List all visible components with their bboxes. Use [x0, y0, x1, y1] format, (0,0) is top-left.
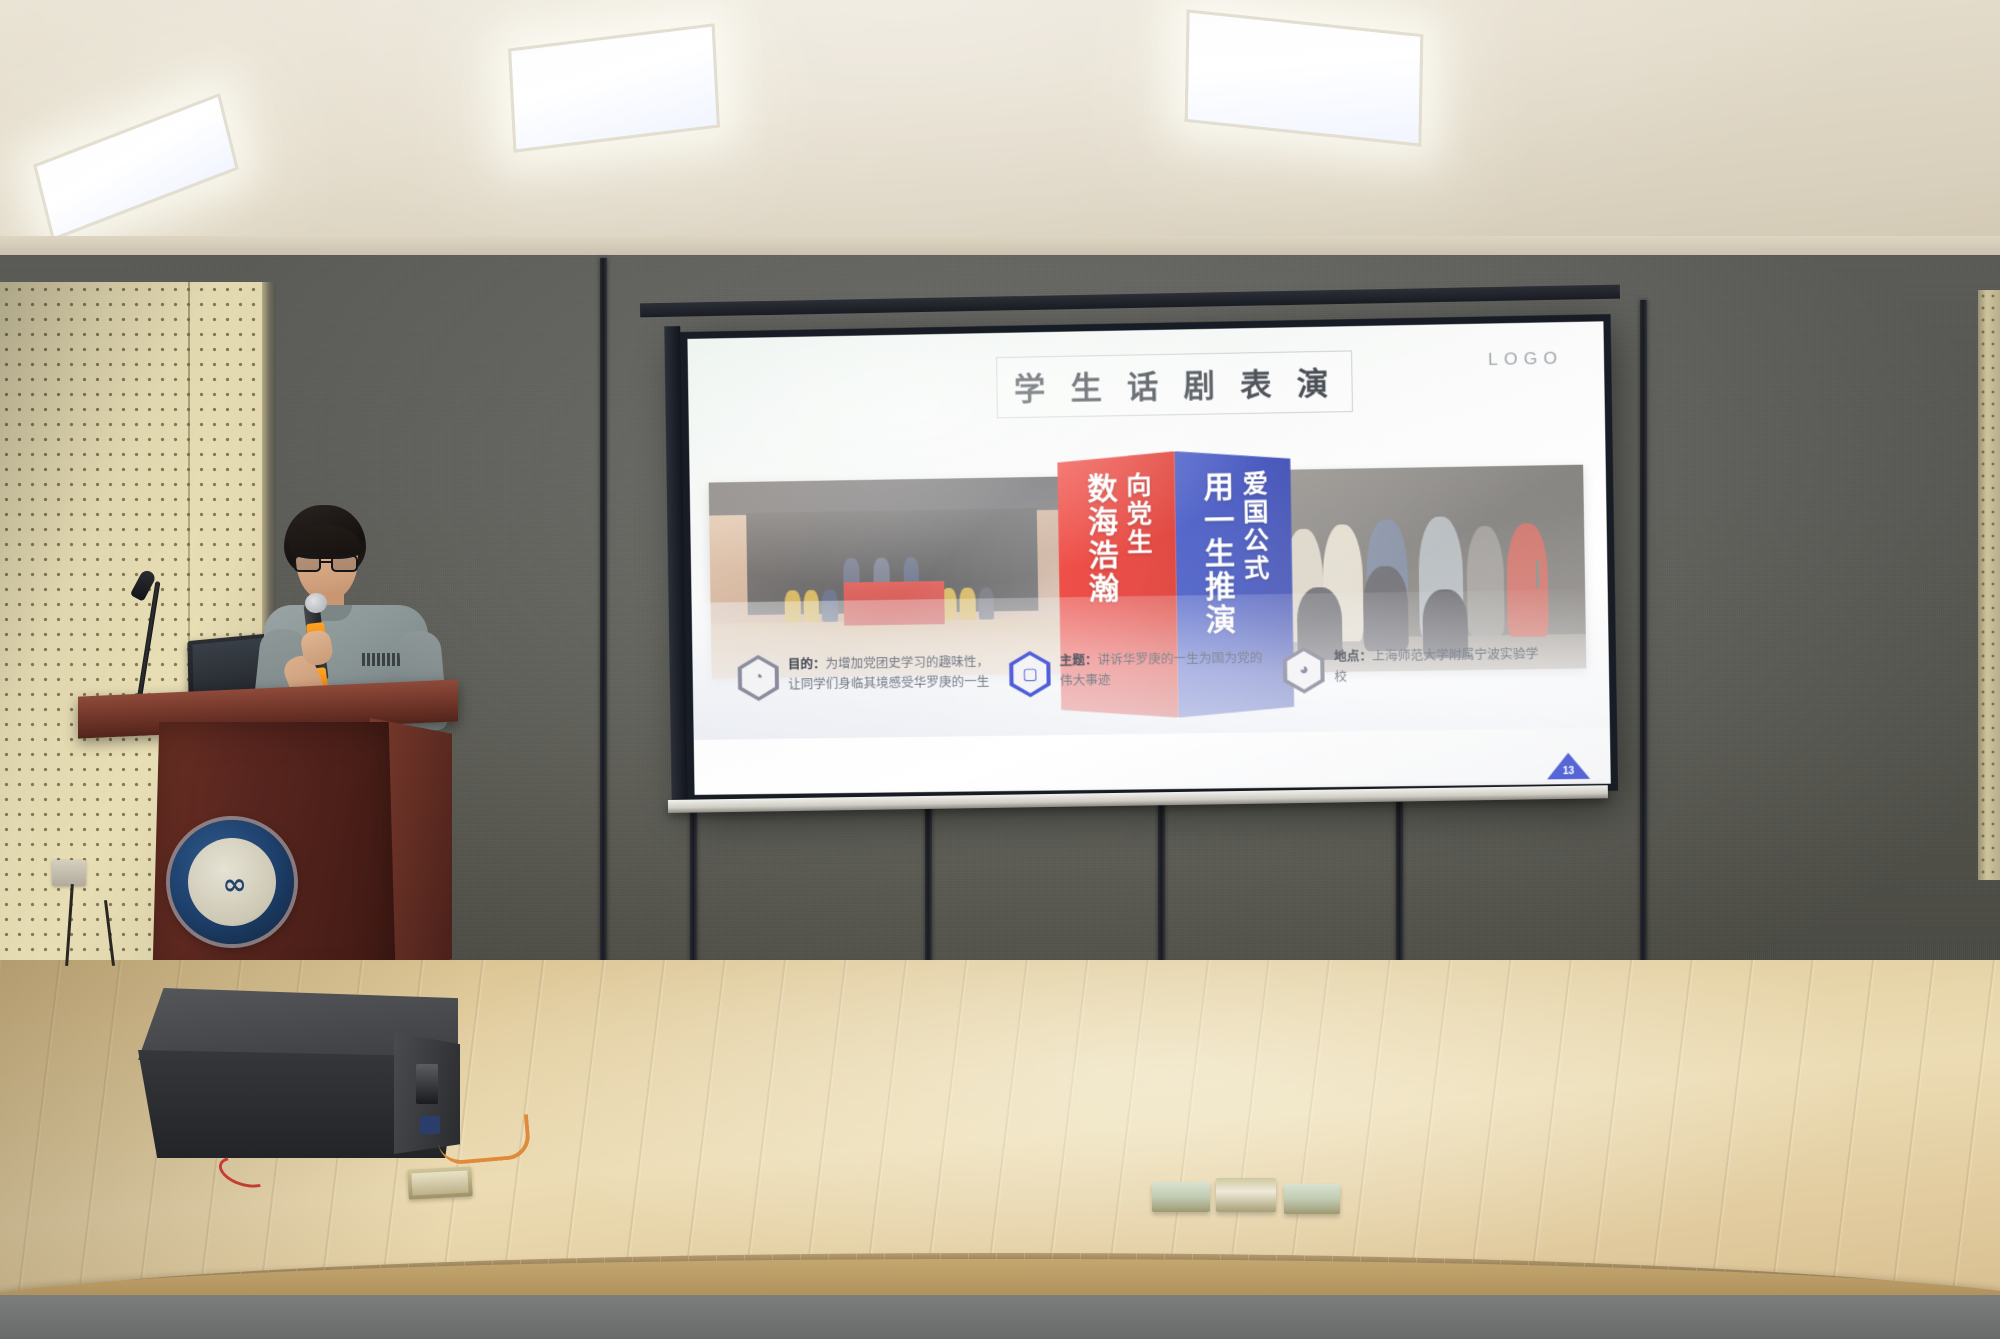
floor-outlet-left: [1152, 1182, 1210, 1212]
floor-outlet-center: [1216, 1178, 1276, 1212]
slide-title: 学 生 话 剧 表 演: [1014, 357, 1336, 408]
lecture-hall-scene: 学 生 话 剧 表 演 LOGO: [0, 0, 2000, 1339]
stage-monitor-speaker: [138, 988, 458, 1158]
info-item-theme-text: 主题：讲诉华罗庚的一生为国为党的伟大事迹: [1060, 648, 1266, 692]
slide-logo-placeholder: LOGO: [1488, 348, 1563, 370]
panel-red-secondary: 向党生: [1123, 472, 1152, 557]
info-item-location-text: 地点：上海师范大学附属宁波实验学校: [1334, 644, 1541, 688]
perforation-pattern: [1978, 290, 2000, 880]
wall-seam: [1640, 300, 1647, 1000]
slide-info-row: ◔ 目的：为增加党团史学习的趣味性，让同学们身临其境感受华罗庚的一生 ▢ 主题：…: [738, 643, 1565, 778]
chart-hex-icon: ◔: [738, 655, 780, 702]
perforated-acoustic-wall-right: [1978, 290, 2000, 880]
panel-blue-secondary: 爱国公式: [1240, 470, 1269, 583]
glasses-icon: [294, 555, 358, 572]
projection-screen[interactable]: 学 生 话 剧 表 演 LOGO: [680, 314, 1618, 802]
monitor-hex-icon: ▢: [1009, 651, 1051, 698]
speaker-vent-port: [416, 1064, 438, 1104]
info-item-purpose-label: 目的：: [788, 656, 826, 672]
info-item-location-label: 地点：: [1334, 648, 1372, 664]
slide-title-box: 学 生 话 剧 表 演: [996, 350, 1353, 418]
house-floor-carpet: [0, 1295, 2000, 1339]
shirt-graphic: [362, 653, 402, 666]
presentation-slide: 学 生 话 剧 表 演 LOGO: [687, 321, 1610, 795]
floor-outlet-right: [1284, 1184, 1340, 1214]
pie-hex-icon: ◕: [1283, 647, 1325, 694]
stage-floor-box-left: [407, 1166, 472, 1199]
info-item-location: ◕ 地点：上海师范大学附属宁波实验学校: [1283, 644, 1541, 694]
wall-power-outlet: [52, 860, 86, 886]
panel-red-primary: 数海浩瀚: [1081, 473, 1116, 606]
emblem-monogram-icon: ∞: [222, 867, 242, 902]
screen-cable: [1536, 560, 1539, 588]
wall-seam: [600, 258, 607, 994]
info-item-purpose: ◔ 目的：为增加党团史学习的趣味性，让同学们身临其境感受华罗庚的一生: [738, 652, 992, 702]
page-number: 13: [1547, 765, 1590, 777]
info-item-theme: ▢ 主题：讲诉华罗庚的一生为国为党的伟大事迹: [1009, 648, 1265, 698]
info-item-purpose-text: 目的：为增加党团史学习的趣味性，让同学们身临其境感受华罗庚的一生: [788, 652, 992, 695]
info-item-theme-label: 主题：: [1060, 652, 1098, 668]
